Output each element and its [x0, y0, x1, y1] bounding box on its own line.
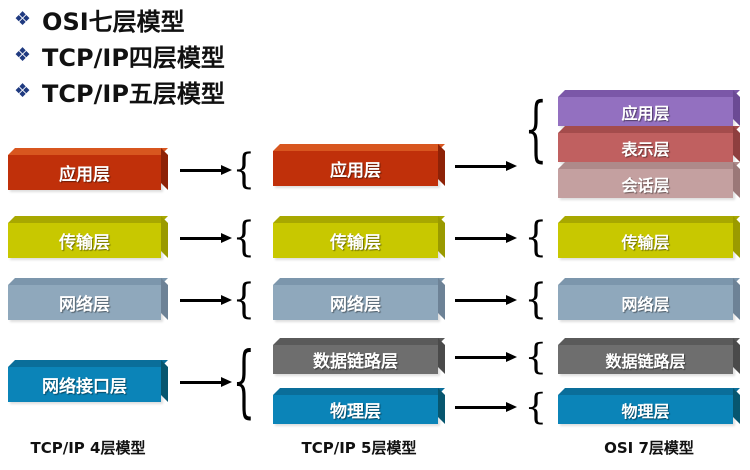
- brace-glyph: {: [234, 343, 254, 421]
- brace-mid-1: {: [526, 214, 546, 262]
- arrow-shaft: [180, 299, 221, 302]
- arrow-head: [506, 402, 517, 412]
- layer-box-rose: 表示层: [558, 126, 740, 162]
- box-top-bevel: [558, 90, 740, 97]
- heading-text: TCP/IP四层模型: [42, 38, 225, 73]
- arrow-shaft: [455, 237, 506, 240]
- arrow-shaft: [455, 299, 506, 302]
- column-caption-tcpip5: TCP/IP 5层模型: [263, 437, 455, 458]
- arrow-head: [506, 161, 517, 171]
- brace-glyph: {: [234, 280, 254, 321]
- box-top-bevel: [558, 126, 740, 133]
- arrow-shaft: [180, 169, 221, 172]
- arrow-shaft: [455, 406, 506, 409]
- box-top-bevel: [558, 216, 740, 223]
- layer-box-steel: 网络层: [273, 278, 445, 320]
- box-top-bevel: [273, 216, 445, 223]
- layer-box-red: 应用层: [8, 148, 168, 190]
- arrow-mid-2: [455, 299, 517, 302]
- arrow-head: [221, 377, 232, 387]
- brace-mid-2: {: [526, 276, 546, 324]
- brace-left-3: {: [234, 336, 254, 428]
- brace-left-2: {: [234, 276, 254, 324]
- brace-glyph: {: [526, 218, 546, 259]
- brace-glyph: {: [234, 150, 254, 191]
- heading-text: OSI七层模型: [42, 2, 185, 37]
- arrow-left-0: [180, 169, 232, 172]
- layer-box-gray: 数据链路层: [273, 338, 445, 374]
- layer-label: 物理层: [558, 395, 733, 424]
- brace-mid-4: {: [526, 386, 546, 428]
- box-side-bevel: [161, 216, 168, 258]
- diamond-bullet-icon: ❖: [14, 82, 31, 101]
- box-top-bevel: [558, 338, 740, 345]
- layer-box-mauve: 会话层: [558, 162, 740, 198]
- arrow-mid-1: [455, 237, 517, 240]
- box-top-bevel: [558, 388, 740, 395]
- arrow-left-3: [180, 381, 232, 384]
- brace-mid-0: {: [526, 88, 546, 172]
- heading-row-2: ❖TCP/IP五层模型: [14, 76, 225, 106]
- layer-box-gray: 数据链路层: [558, 338, 740, 374]
- arrow-head: [506, 352, 517, 362]
- layer-label: 数据链路层: [273, 345, 438, 374]
- diamond-bullet-icon: ❖: [14, 10, 31, 29]
- box-side-bevel: [438, 216, 445, 258]
- layer-label: 物理层: [273, 395, 438, 424]
- layer-label: 网络层: [273, 285, 438, 320]
- arrow-head: [221, 165, 232, 175]
- layer-label: 网络接口层: [8, 367, 161, 402]
- layer-box-purple: 应用层: [558, 90, 740, 126]
- heading-row-1: ❖TCP/IP四层模型: [14, 40, 225, 70]
- layer-label: 应用层: [8, 155, 161, 190]
- arrow-left-2: [180, 299, 232, 302]
- layer-box-blue: 物理层: [273, 388, 445, 424]
- brace-mid-3: {: [526, 336, 546, 378]
- box-top-bevel: [558, 278, 740, 285]
- box-top-bevel: [273, 144, 445, 151]
- layer-label: 数据链路层: [558, 345, 733, 374]
- box-side-bevel: [161, 278, 168, 320]
- box-top-bevel: [273, 278, 445, 285]
- layer-box-steel: 网络层: [8, 278, 168, 320]
- diamond-bullet-icon: ❖: [14, 46, 31, 65]
- arrow-head: [221, 233, 232, 243]
- layer-box-yellow: 传输层: [273, 216, 445, 258]
- layer-label: 表示层: [558, 133, 733, 162]
- box-top-bevel: [8, 278, 168, 285]
- box-side-bevel: [733, 216, 740, 258]
- column-caption-tcpip4: TCP/IP 4层模型: [0, 437, 178, 458]
- box-side-bevel: [161, 360, 168, 402]
- heading-row-0: ❖OSI七层模型: [14, 4, 185, 34]
- brace-glyph: {: [234, 218, 254, 259]
- arrow-head: [506, 233, 517, 243]
- box-top-bevel: [8, 360, 168, 367]
- layer-box-yellow: 传输层: [558, 216, 740, 258]
- brace-glyph: {: [526, 389, 546, 425]
- column-caption-osi7: OSI 7层模型: [548, 437, 750, 458]
- layer-label: 应用层: [273, 151, 438, 186]
- arrow-mid-0: [455, 165, 517, 168]
- box-side-bevel: [438, 144, 445, 186]
- box-side-bevel: [438, 278, 445, 320]
- layer-box-red: 应用层: [273, 144, 445, 186]
- arrow-shaft: [180, 237, 221, 240]
- box-top-bevel: [273, 338, 445, 345]
- box-side-bevel: [733, 278, 740, 320]
- box-top-bevel: [8, 216, 168, 223]
- layer-label: 网络层: [8, 285, 161, 320]
- arrow-left-1: [180, 237, 232, 240]
- box-top-bevel: [8, 148, 168, 155]
- diagram-canvas: ❖OSI七层模型❖TCP/IP四层模型❖TCP/IP五层模型应用层传输层网络层网…: [0, 0, 750, 470]
- layer-label: 传输层: [273, 223, 438, 258]
- layer-box-blue: 物理层: [558, 388, 740, 424]
- brace-left-1: {: [234, 214, 254, 262]
- brace-glyph: {: [526, 339, 546, 375]
- box-top-bevel: [558, 162, 740, 169]
- arrow-mid-4: [455, 406, 517, 409]
- arrow-head: [221, 295, 232, 305]
- brace-glyph: {: [526, 94, 546, 165]
- brace-left-0: {: [234, 146, 254, 194]
- layer-box-blue: 网络接口层: [8, 360, 168, 402]
- heading-text: TCP/IP五层模型: [42, 74, 225, 109]
- layer-label: 会话层: [558, 169, 733, 198]
- layer-label: 应用层: [558, 97, 733, 126]
- box-side-bevel: [161, 148, 168, 190]
- layer-box-steel: 网络层: [558, 278, 740, 320]
- layer-label: 传输层: [8, 223, 161, 258]
- arrow-mid-3: [455, 356, 517, 359]
- layer-box-yellow: 传输层: [8, 216, 168, 258]
- arrow-shaft: [455, 356, 506, 359]
- layer-label: 网络层: [558, 285, 733, 320]
- arrow-shaft: [455, 165, 506, 168]
- layer-label: 传输层: [558, 223, 733, 258]
- arrow-shaft: [180, 381, 221, 384]
- box-top-bevel: [273, 388, 445, 395]
- brace-glyph: {: [526, 280, 546, 321]
- arrow-head: [506, 295, 517, 305]
